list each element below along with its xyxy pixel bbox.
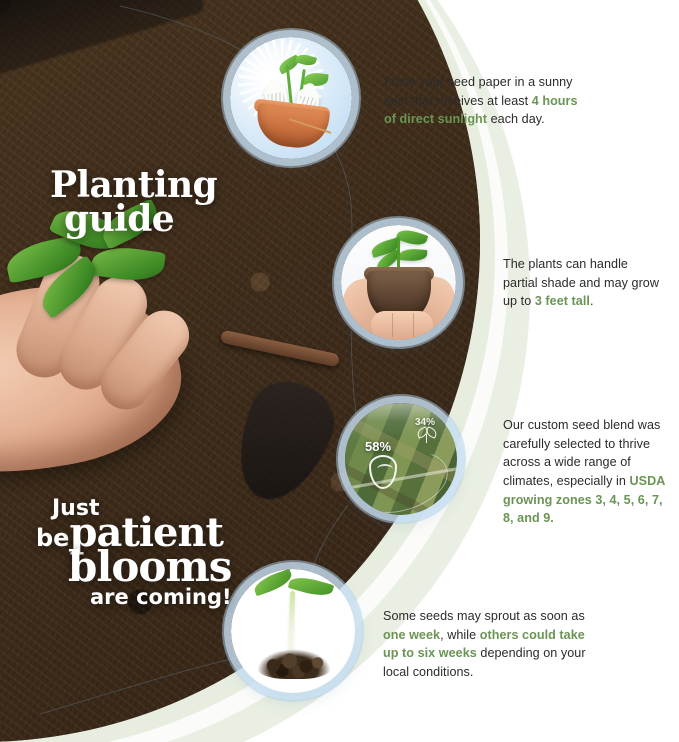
overlay-value-58: 58% bbox=[365, 439, 391, 454]
step-2-part-1: 3 feet tall bbox=[535, 294, 590, 308]
step-1-part-2: each day. bbox=[487, 112, 545, 126]
step-3-text: Our custom seed blend was carefully sele… bbox=[503, 416, 671, 528]
footer-words-are-coming: are coming! bbox=[90, 585, 286, 609]
step-4-part-1: one week bbox=[383, 628, 440, 642]
page-title-line2: guide bbox=[64, 202, 280, 236]
step-4-text: Some seeds may sprout as soon as one wee… bbox=[383, 607, 587, 682]
hero-footer-headline: Just bepatient blooms are coming! bbox=[36, 498, 286, 609]
planting-guide-infographic: Planting guide Just bepatient blooms are… bbox=[0, 0, 679, 742]
page-title: Planting guide bbox=[50, 168, 280, 236]
sprout-icon bbox=[417, 427, 437, 445]
step-1-text: Place your seed paper in a sunny spot th… bbox=[384, 73, 584, 129]
step-2-text: The plants can handle partial shade and … bbox=[503, 255, 663, 311]
soil-mound bbox=[257, 649, 331, 679]
footer-word-blooms: blooms bbox=[68, 548, 286, 586]
fingers bbox=[371, 311, 433, 340]
step-3-image: 34% 58% bbox=[345, 403, 457, 515]
step-4-part-2: , while bbox=[440, 628, 480, 642]
footer-word-be: be bbox=[36, 524, 69, 552]
step-2-part-2: . bbox=[590, 294, 594, 308]
step-1-image bbox=[230, 37, 352, 159]
step-2-image bbox=[341, 225, 456, 340]
step-4-part-0: Some seeds may sprout as soon as bbox=[383, 609, 585, 623]
stem bbox=[397, 237, 400, 271]
